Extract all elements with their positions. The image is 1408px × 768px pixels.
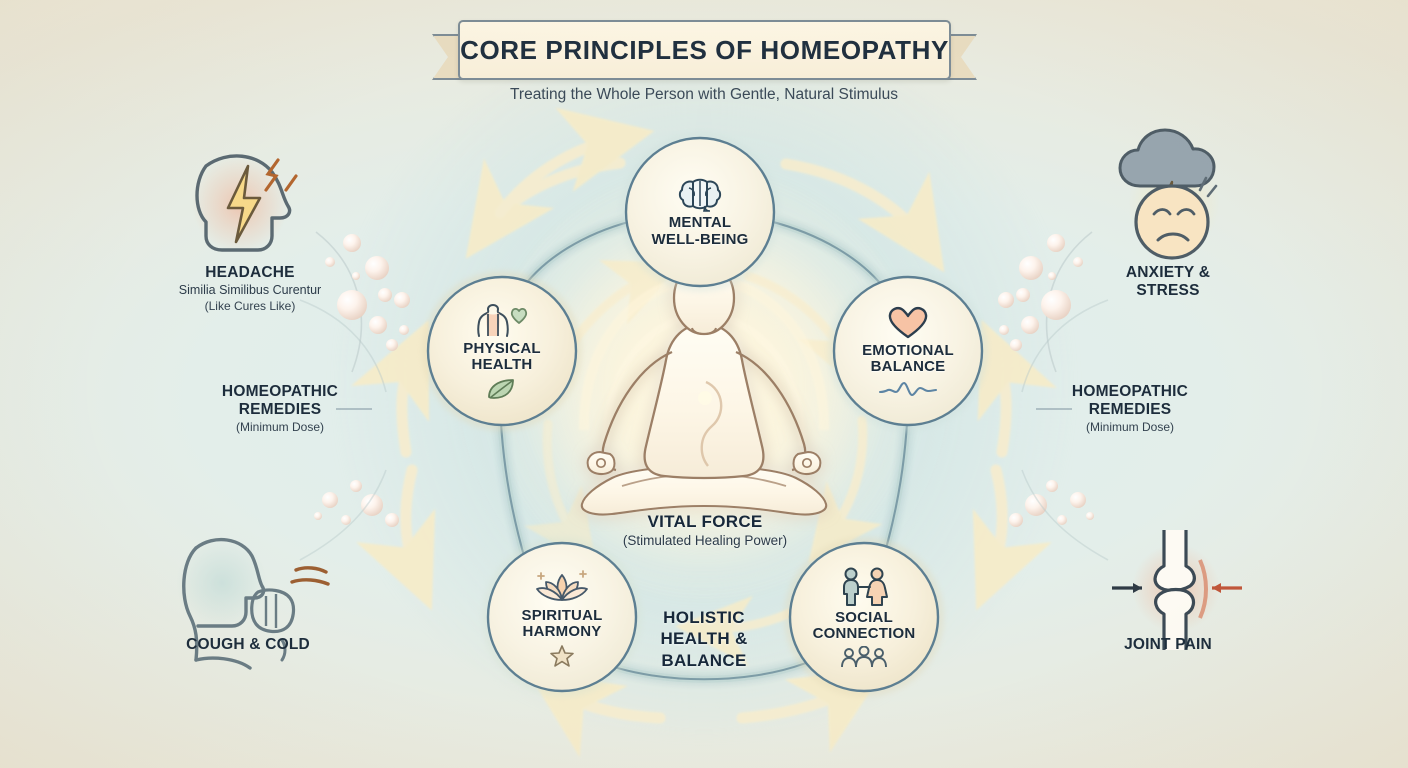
headache-heading: HEADACHE — [120, 264, 380, 282]
star-icon — [549, 644, 575, 668]
leaf-icon — [485, 377, 519, 401]
anxiety-line-2: STRESS — [1038, 282, 1298, 300]
holistic-line-3: BALANCE — [620, 650, 788, 671]
label-homeopathic-remedies-left: HOMEOPATHIC REMEDIES (Minimum Dose) — [150, 383, 410, 435]
node-social-label: SOCIALCONNECTION — [813, 610, 916, 643]
remedies-left-line-1: HOMEOPATHIC — [150, 383, 410, 401]
page-title: CORE PRINCIPLES OF HOMEOPATHY — [460, 35, 949, 66]
label-cough-cold: COUGH & COLD — [118, 636, 378, 654]
node-spiritual-harmony[interactable]: SPIRITUALHARMONY — [488, 543, 636, 691]
storm-cloud-sad-face-icon — [1120, 130, 1220, 258]
node-physical-label: PHYSICALHEALTH — [463, 341, 540, 374]
remedies-left-sub: (Minimum Dose) — [150, 420, 410, 435]
remedies-right-line-2: REMEDIES — [1000, 401, 1260, 419]
label-joint-pain: JOINT PAIN — [1038, 636, 1298, 654]
holistic-line-2: HEALTH & — [620, 628, 788, 649]
vital-force-subtitle: (Stimulated Healing Power) — [560, 533, 850, 548]
label-headache: HEADACHE Similia Similibus Curentur (Lik… — [120, 264, 380, 314]
vital-force-caption: VITAL FORCE (Stimulated Healing Power) — [560, 512, 850, 548]
node-mental-label: MENTALWELL-BEING — [652, 215, 749, 248]
node-physical-health[interactable]: PHYSICALHEALTH — [428, 277, 576, 425]
remedies-right-line-1: HOMEOPATHIC — [1000, 383, 1260, 401]
infographic-canvas: CORE PRINCIPLES OF HOMEOPATHY Treating t… — [0, 0, 1408, 768]
joint-pain-heading: JOINT PAIN — [1038, 636, 1298, 654]
head-lightning-icon — [192, 156, 296, 253]
node-social-connection[interactable]: SOCIALCONNECTION — [790, 543, 938, 691]
label-anxiety-stress: ANXIETY & STRESS — [1038, 264, 1298, 301]
anxiety-line-1: ANXIETY & — [1038, 264, 1298, 282]
title-ribbon: CORE PRINCIPLES OF HOMEOPATHY — [432, 20, 977, 82]
node-spiritual-label: SPIRITUALHARMONY — [522, 608, 603, 641]
headache-sub: Similia Similibus Curentur — [120, 283, 380, 299]
headache-sub2: (Like Cures Like) — [120, 299, 380, 314]
cough-cold-heading: COUGH & COLD — [118, 636, 378, 654]
holistic-health-caption: HOLISTIC HEALTH & BALANCE — [620, 607, 788, 671]
label-homeopathic-remedies-right: HOMEOPATHIC REMEDIES (Minimum Dose) — [1000, 383, 1260, 435]
remedies-left-line-2: REMEDIES — [150, 401, 410, 419]
two-people-icon — [834, 567, 894, 607]
remedies-right-sub: (Minimum Dose) — [1000, 420, 1260, 435]
ribbon-plate: CORE PRINCIPLES OF HOMEOPATHY — [458, 20, 951, 80]
holistic-line-1: HOLISTIC — [620, 607, 788, 628]
brain-icon — [677, 176, 723, 212]
page-subtitle: Treating the Whole Person with Gentle, N… — [0, 86, 1408, 104]
node-emotional-balance[interactable]: EMOTIONALBALANCE — [834, 277, 982, 425]
heart-icon — [887, 304, 929, 340]
group-people-icon — [838, 646, 890, 668]
knee-joint-icon — [1112, 530, 1242, 650]
lotus-icon — [529, 567, 595, 605]
pulse-wave-icon — [878, 379, 938, 399]
body-heart-icon — [473, 302, 531, 338]
node-mental-well-being[interactable]: MENTALWELL-BEING — [626, 138, 774, 286]
node-emotional-label: EMOTIONALBALANCE — [862, 343, 954, 376]
vital-force-title: VITAL FORCE — [560, 512, 850, 532]
